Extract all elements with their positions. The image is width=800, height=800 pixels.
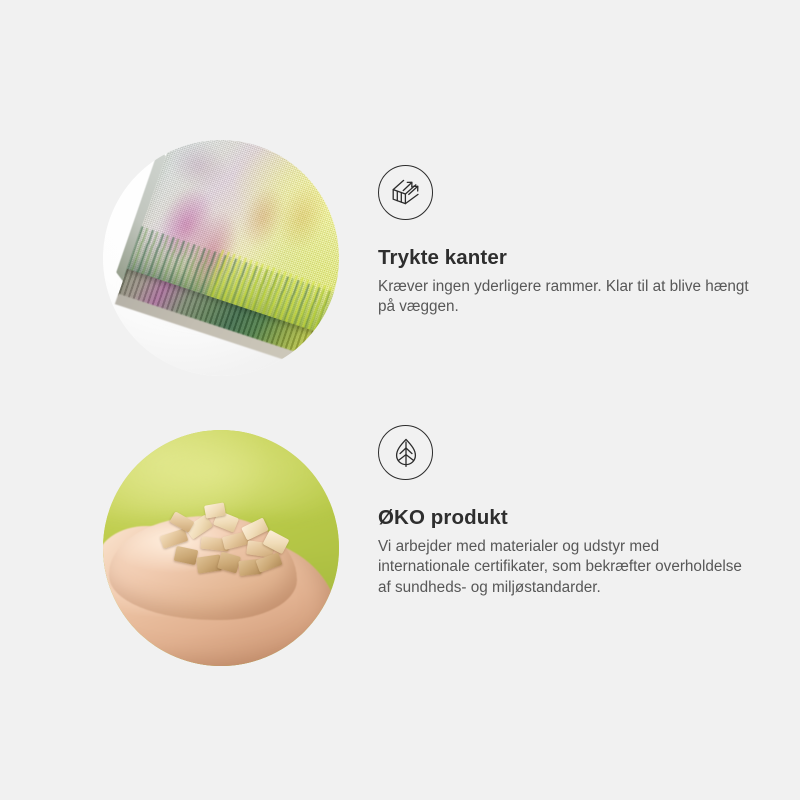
feature-text-column: ØKO produkt Vi arbejder med materialer o… — [378, 425, 758, 598]
feature-block-eco-product: ØKO produkt Vi arbejder med materialer o… — [0, 395, 800, 685]
canvas-print-corner-photo — [103, 140, 339, 376]
feature-title: Trykte kanter — [378, 220, 758, 270]
leaf-icon — [378, 425, 433, 480]
feature-description: Vi arbejder med materialer og udstyr med… — [378, 530, 750, 598]
feature-block-printed-edges: Trykte kanter Kræver ingen yderligere ra… — [0, 110, 800, 410]
wood-chip-pile — [157, 504, 291, 588]
feature-title: ØKO produkt — [378, 480, 758, 530]
printed-edges-icon — [378, 165, 433, 220]
feature-text-column: Trykte kanter Kræver ingen yderligere ra… — [378, 165, 758, 318]
art-streak — [269, 176, 335, 257]
hands-holding-wood-chips-photo — [103, 430, 339, 666]
feature-description: Kræver ingen yderligere rammer. Klar til… — [378, 270, 750, 318]
promo-feature-page: Trykte kanter Kræver ingen yderligere ra… — [0, 0, 800, 800]
